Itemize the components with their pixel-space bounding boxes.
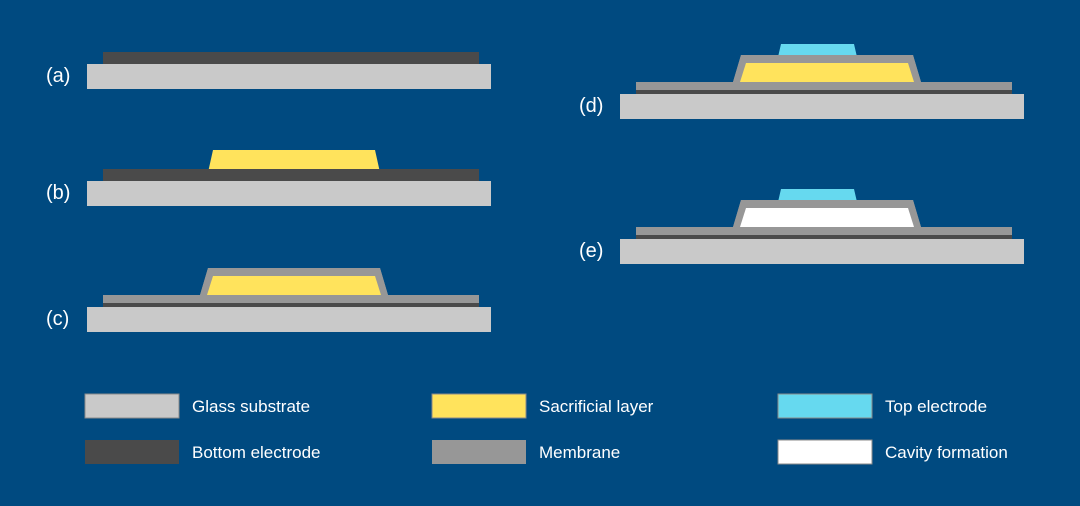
panel-a: (a) xyxy=(46,52,491,89)
panel-c-label: (c) xyxy=(46,308,69,330)
legend-label-bottom-electrode: Bottom electrode xyxy=(192,443,321,462)
panel-b-glass-substrate xyxy=(87,181,491,206)
panel-d-label: (d) xyxy=(579,95,603,117)
legend-label-glass-substrate: Glass substrate xyxy=(192,397,310,416)
figure-canvas: (a) (b) (c) (d) xyxy=(0,0,1080,506)
legend-swatch-glass-substrate xyxy=(85,394,179,418)
legend-swatch-sacrificial-layer xyxy=(432,394,526,418)
panel-e-label: (e) xyxy=(579,240,603,262)
legend-item-sacrificial-layer: Sacrificial layer xyxy=(432,394,654,418)
legend-label-top-electrode: Top electrode xyxy=(885,397,987,416)
panel-e-cavity xyxy=(740,208,914,227)
legend-item-bottom-electrode: Bottom electrode xyxy=(85,440,321,464)
legend-label-cavity-formation: Cavity formation xyxy=(885,443,1008,462)
legend-item-glass-substrate: Glass substrate xyxy=(85,394,310,418)
panel-c-sacrificial-layer-fill xyxy=(207,276,381,295)
legend-swatch-cavity-formation xyxy=(778,440,872,464)
panel-a-label: (a) xyxy=(46,65,70,87)
panel-b-bottom-electrode xyxy=(103,169,479,181)
panel-d-glass-substrate xyxy=(620,94,1024,119)
panel-e-glass-substrate xyxy=(620,239,1024,264)
panel-a-bottom-electrode xyxy=(103,52,479,64)
process-flow-diagram: (a) (b) (c) (d) xyxy=(0,0,1080,506)
legend-label-sacrificial-layer: Sacrificial layer xyxy=(539,397,654,416)
panel-a-glass-substrate xyxy=(87,64,491,89)
legend-item-cavity-formation: Cavity formation xyxy=(778,440,1008,464)
legend-swatch-membrane xyxy=(432,440,526,464)
legend-swatch-top-electrode xyxy=(778,394,872,418)
legend-label-membrane: Membrane xyxy=(539,443,620,462)
panel-c-glass-substrate xyxy=(87,307,491,332)
panel-b-label: (b) xyxy=(46,182,70,204)
legend-swatch-bottom-electrode xyxy=(85,440,179,464)
panel-d-sacrificial-layer xyxy=(740,63,914,82)
